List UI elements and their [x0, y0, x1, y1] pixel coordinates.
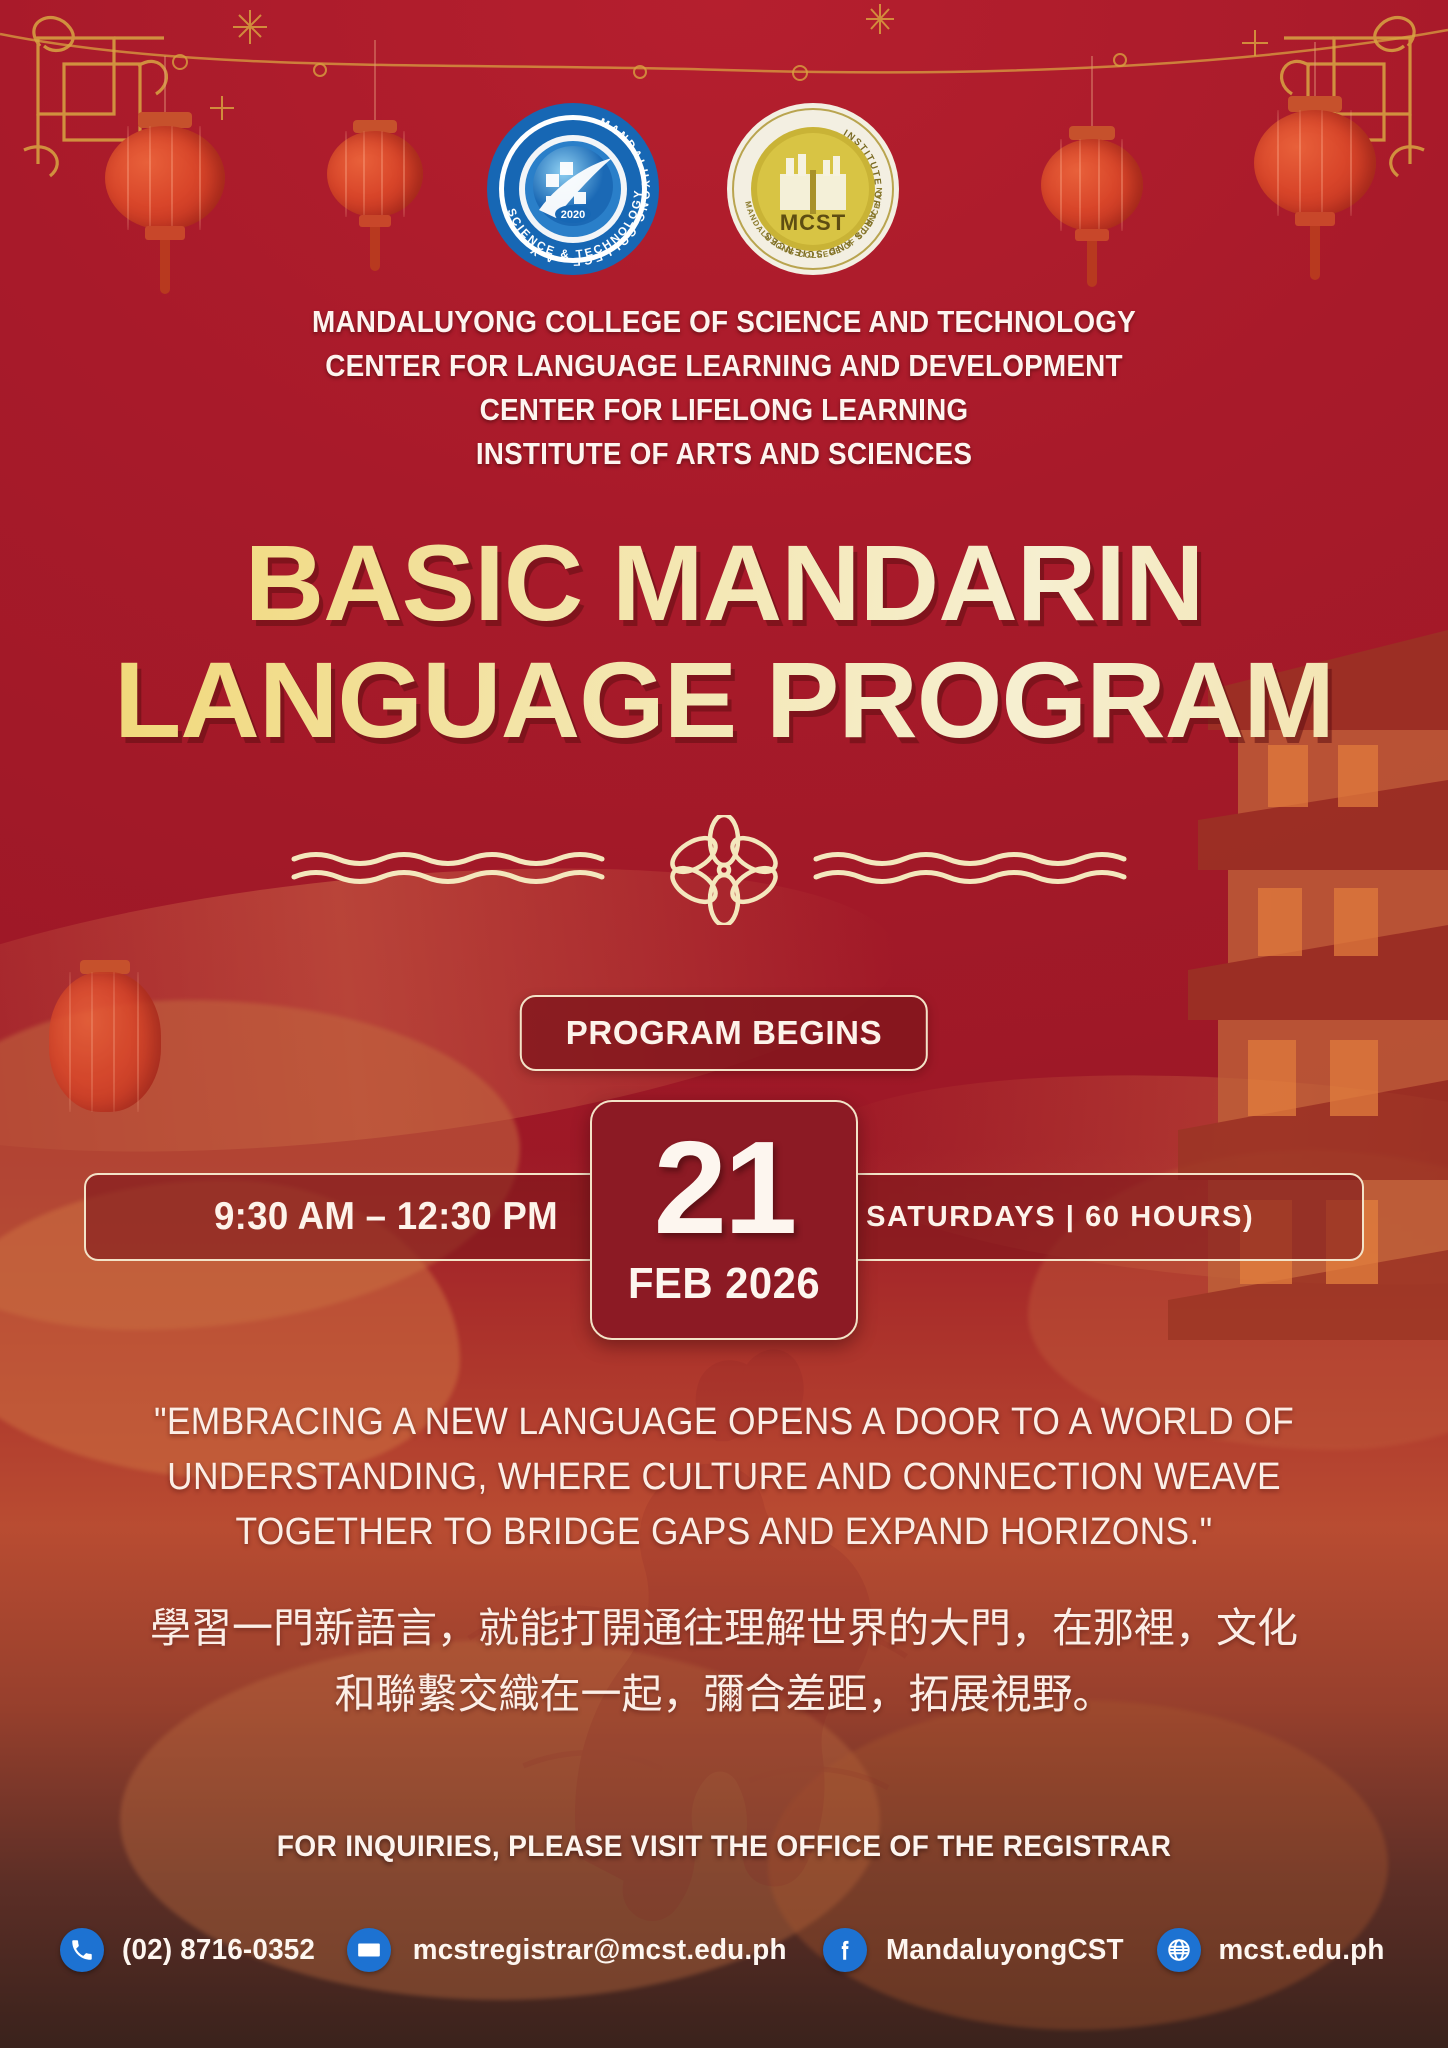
- svg-text:MCST: MCST: [780, 210, 846, 235]
- contact-facebook[interactable]: MandaluyongCST: [823, 1928, 1129, 1972]
- start-date-month-year: FEB 2026: [628, 1259, 820, 1309]
- contact-facebook-label: MandaluyongCST: [886, 1934, 1124, 1967]
- page-title: BASIC MANDARIN LANGUAGE PROGRAM: [0, 525, 1448, 758]
- poster-canvas: 2020 MANDALUYONG COLLEGE ∙ A.Y. SCIENCE …: [0, 0, 1448, 2048]
- divider-flourish-icon: [284, 815, 1164, 925]
- start-date-card: 21 FEB 2026: [590, 1100, 858, 1340]
- envelope-icon: [347, 1928, 391, 1972]
- contact-email-label: mcstregistrar@mcst.edu.ph: [413, 1934, 787, 1967]
- globe-icon: [1157, 1928, 1201, 1972]
- org-line-1: MANDALUYONG COLLEGE OF SCIENCE AND TECHN…: [72, 300, 1375, 344]
- contact-website[interactable]: mcst.edu.ph: [1157, 1928, 1388, 1972]
- quote-english: "EMBRACING A NEW LANGUAGE OPENS A DOOR T…: [144, 1395, 1305, 1560]
- inquiries-note: FOR INQUIRIES, PLEASE VISIT THE OFFICE O…: [43, 1830, 1404, 1864]
- contact-email[interactable]: mcstregistrar@mcst.edu.ph: [347, 1928, 794, 1972]
- program-time-range: 9:30 AM – 12:30 PM: [104, 1195, 668, 1239]
- decorative-divider: [0, 815, 1448, 925]
- org-line-2: CENTER FOR LANGUAGE LEARNING AND DEVELOP…: [72, 344, 1375, 388]
- ias-seal-logo: MCST INSTITUTE OF ARTS AND SCIENCES MAND…: [724, 100, 902, 278]
- contact-phone[interactable]: (02) 8716-0352: [60, 1928, 319, 1972]
- phone-icon: [60, 1928, 104, 1972]
- title-line-1: BASIC MANDARIN: [0, 525, 1448, 642]
- title-line-2: LANGUAGE PROGRAM: [0, 642, 1448, 759]
- start-date-day: 21: [654, 1131, 795, 1245]
- program-begins-badge: PROGRAM BEGINS: [520, 995, 928, 1071]
- org-line-3: CENTER FOR LIFELONG LEARNING: [72, 388, 1375, 432]
- contact-website-label: mcst.edu.ph: [1218, 1934, 1384, 1967]
- mcst-seal-logo: 2020 MANDALUYONG COLLEGE ∙ A.Y. SCIENCE …: [484, 100, 662, 278]
- org-line-4: INSTITUTE OF ARTS AND SCIENCES: [72, 432, 1375, 476]
- quote-chinese: 學習一門新語言，就能打開通往理解世界的大門，在那裡，文化和聯繫交織在一起，彌合差…: [150, 1595, 1298, 1728]
- contact-row: (02) 8716-0352 mcstregistrar@mcst.edu.ph…: [60, 1915, 1388, 1985]
- organization-header: MANDALUYONG COLLEGE OF SCIENCE AND TECHN…: [72, 300, 1375, 476]
- svg-text:2020: 2020: [561, 209, 585, 221]
- contact-phone-label: (02) 8716-0352: [122, 1934, 315, 1967]
- facebook-icon: [823, 1928, 867, 1972]
